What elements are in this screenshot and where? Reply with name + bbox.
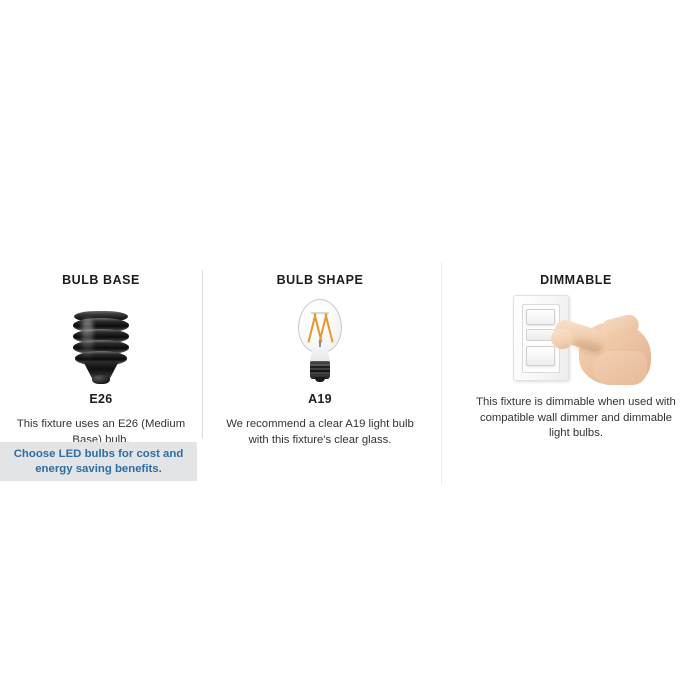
dimmable-description: This fixture is dimmable when used with … bbox=[452, 395, 700, 442]
bulb-shape-description: We recommend a clear A19 light bulb with… bbox=[203, 417, 437, 448]
bulb-base-title: BULB BASE bbox=[0, 273, 202, 287]
e26-screw-base-icon bbox=[0, 293, 202, 385]
a19-bulb-icon bbox=[203, 293, 437, 385]
section-headers: BULB INFORMATION DIMMING INFORMATION bbox=[0, 205, 700, 256]
product-info-panel: BULB INFORMATION DIMMING INFORMATION BUL… bbox=[0, 0, 700, 700]
bulb-shape-spec: A19 bbox=[203, 392, 437, 406]
bulb-header-light: INFORMATION bbox=[184, 221, 306, 240]
bulb-shape-title: BULB SHAPE bbox=[203, 273, 437, 287]
hand-icon bbox=[549, 307, 649, 385]
dimming-information-header: DIMMING INFORMATION bbox=[452, 205, 700, 256]
bulb-base-column: BULB BASE E26 This fixture uses an E26 (… bbox=[0, 256, 202, 448]
led-tip-banner: Choose LED bulbs for cost and energy sav… bbox=[0, 442, 197, 481]
bulb-information-header: BULB INFORMATION bbox=[0, 205, 437, 256]
dimming-header-strong: DIMMING bbox=[473, 221, 551, 240]
bulb-base-spec: E26 bbox=[0, 392, 202, 406]
dimmable-title: DIMMABLE bbox=[452, 273, 700, 287]
wall-dimmer-switch-icon bbox=[452, 293, 700, 385]
led-tip-text: Choose LED bulbs for cost and energy sav… bbox=[0, 447, 197, 477]
bulb-header-strong: BULB bbox=[131, 221, 180, 240]
bulb-shape-column: BULB SHAPE A19 We recommend a clear A19 … bbox=[203, 256, 437, 448]
dimmable-column: DIMMABLE bbox=[452, 256, 700, 442]
dimming-header-light: INFORMATION bbox=[557, 221, 679, 240]
